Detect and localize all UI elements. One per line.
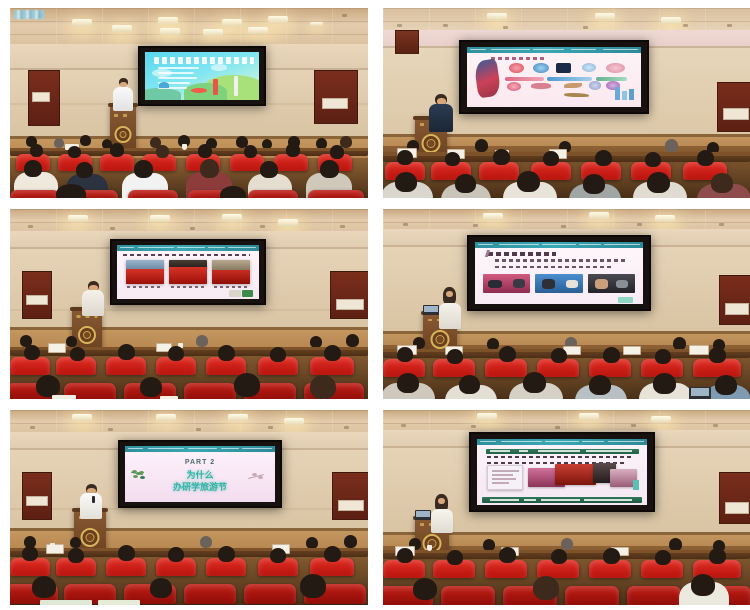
ceiling-lamp — [68, 215, 88, 222]
nameplate — [46, 544, 64, 554]
slide-photo — [126, 260, 164, 284]
lecture-hall-scene — [383, 410, 750, 605]
ceiling-lamp — [477, 413, 497, 420]
side-door-right — [719, 472, 750, 524]
speaker-body — [113, 87, 133, 111]
ceiling-lamp — [268, 16, 288, 23]
speaker-body — [82, 290, 104, 316]
projector-screen-frame — [138, 46, 266, 106]
slide-project-table — [477, 439, 647, 505]
side-door-right — [332, 472, 368, 520]
wall-plate — [725, 303, 749, 315]
lecture-hall-scene — [10, 8, 368, 198]
speaker-body — [431, 509, 453, 533]
ceiling-lamp — [248, 27, 268, 34]
side-door-right — [314, 70, 358, 124]
slide-header-bar — [475, 242, 643, 248]
slide-header-bar — [117, 245, 259, 251]
slide-line-2: 办研学旅游节 — [125, 480, 275, 493]
slide-header-bar — [467, 47, 641, 53]
panel-3-middle-left — [10, 209, 368, 399]
wall-plate — [336, 299, 364, 310]
lecture-hall-scene — [383, 209, 750, 399]
wall-plate — [32, 92, 50, 102]
ceiling-lamp — [72, 414, 92, 421]
podium-emblem — [422, 134, 441, 153]
lecture-hall-scene: PART 2 为什么 办研学旅游节 — [10, 410, 368, 605]
ceiling-lamp — [156, 414, 176, 421]
slide-photo — [535, 274, 582, 293]
speaker-face — [438, 498, 445, 504]
lecture-hall-scene — [383, 8, 750, 198]
ceiling-lamp — [651, 416, 671, 423]
podium-emblem — [115, 126, 132, 143]
slide-part-2: PART 2 为什么 办研学旅游节 — [125, 446, 275, 502]
ceiling-lamp — [487, 13, 507, 20]
laptop — [689, 387, 711, 399]
ceiling-lamp — [310, 22, 323, 26]
projector-screen-frame — [459, 40, 649, 114]
ceiling-lamp — [160, 28, 180, 35]
ceiling-lamp — [589, 212, 609, 219]
slide-footer-banner — [482, 497, 642, 503]
wall-plate — [26, 295, 48, 305]
panel-6-bottom-right — [383, 410, 750, 605]
wall-plate — [723, 108, 749, 120]
ceiling-lamp — [150, 215, 170, 222]
wall-plate — [338, 500, 364, 511]
wall-plate — [322, 98, 348, 109]
microphone — [92, 496, 95, 503]
ceiling-lamp — [203, 29, 223, 36]
ceiling-lamp — [222, 19, 242, 26]
slide-course-practice — [475, 242, 643, 304]
nameplate — [48, 343, 66, 353]
projector-screen-frame: PART 2 为什么 办研学旅游节 — [118, 440, 282, 508]
slide-display — [477, 439, 647, 505]
projector-screen-frame — [467, 235, 651, 311]
slide-photo — [212, 260, 250, 284]
ceiling-lamp — [483, 213, 503, 220]
nameplate — [689, 345, 709, 355]
slide-part-label: PART 2 — [125, 459, 275, 466]
podium-emblem — [81, 528, 100, 547]
slide-photo — [588, 274, 635, 293]
slide-display — [475, 242, 643, 304]
podium-emblem — [78, 326, 96, 344]
slide-timeline — [467, 47, 641, 107]
slide-photo — [169, 260, 207, 284]
side-door-left — [395, 30, 419, 54]
speaker-body — [429, 104, 453, 132]
ceiling-lamp — [278, 219, 298, 226]
slide-header-bar — [477, 439, 647, 445]
panel-2-top-right — [383, 8, 750, 198]
ceiling-lamp — [72, 19, 92, 26]
slide-title — [154, 57, 254, 63]
slide-photo — [483, 274, 530, 293]
lecture-hall-scene — [10, 209, 368, 399]
ceiling-lamp — [112, 25, 132, 32]
projector-screen-frame — [110, 239, 266, 305]
slide-opening — [145, 52, 259, 100]
slide-display — [145, 52, 259, 100]
side-door-right — [330, 271, 368, 319]
ceiling-lamp — [595, 13, 615, 20]
ceiling-lamp — [655, 215, 675, 222]
panel-1-top-left — [10, 8, 368, 198]
ceiling-lamp — [661, 17, 681, 24]
nameplate — [623, 346, 641, 355]
speaker-body — [80, 493, 102, 519]
ceiling-lamp — [228, 414, 248, 421]
ceiling-lamp — [158, 17, 178, 24]
side-door-right — [719, 275, 750, 325]
wall-plate — [26, 496, 48, 506]
podium-inscription — [114, 114, 132, 117]
slide-display: PART 2 为什么 办研学旅游节 — [125, 446, 275, 502]
speaker-body — [439, 303, 461, 329]
slide-title — [488, 252, 555, 256]
slide-header-bar — [125, 446, 275, 452]
watermark — [14, 10, 44, 19]
photo-collage: PART 2 为什么 办研学旅游节 — [0, 0, 750, 610]
panel-4-middle-right — [383, 209, 750, 399]
ceiling-lamp — [222, 214, 242, 221]
slide-body-text — [495, 259, 629, 272]
wall-plate — [725, 502, 749, 514]
slide-photo — [555, 464, 596, 485]
slide-title — [123, 254, 251, 257]
slide-table-header — [486, 449, 639, 454]
speaker-face — [446, 291, 453, 297]
slide-display — [467, 47, 641, 107]
laptop — [423, 305, 439, 315]
panel-5-bottom-left: PART 2 为什么 办研学旅游节 — [10, 410, 368, 605]
slide-display — [117, 245, 259, 299]
side-door-right — [717, 82, 750, 132]
slide-title — [491, 57, 543, 60]
dna-helix-graphic — [473, 59, 501, 99]
slide-red-photos — [117, 245, 259, 299]
ceiling-lamp — [284, 418, 304, 425]
projector-screen-frame — [469, 432, 655, 512]
ceiling-lamp — [579, 413, 599, 420]
slide-photo — [487, 465, 523, 489]
laptop — [415, 510, 431, 520]
